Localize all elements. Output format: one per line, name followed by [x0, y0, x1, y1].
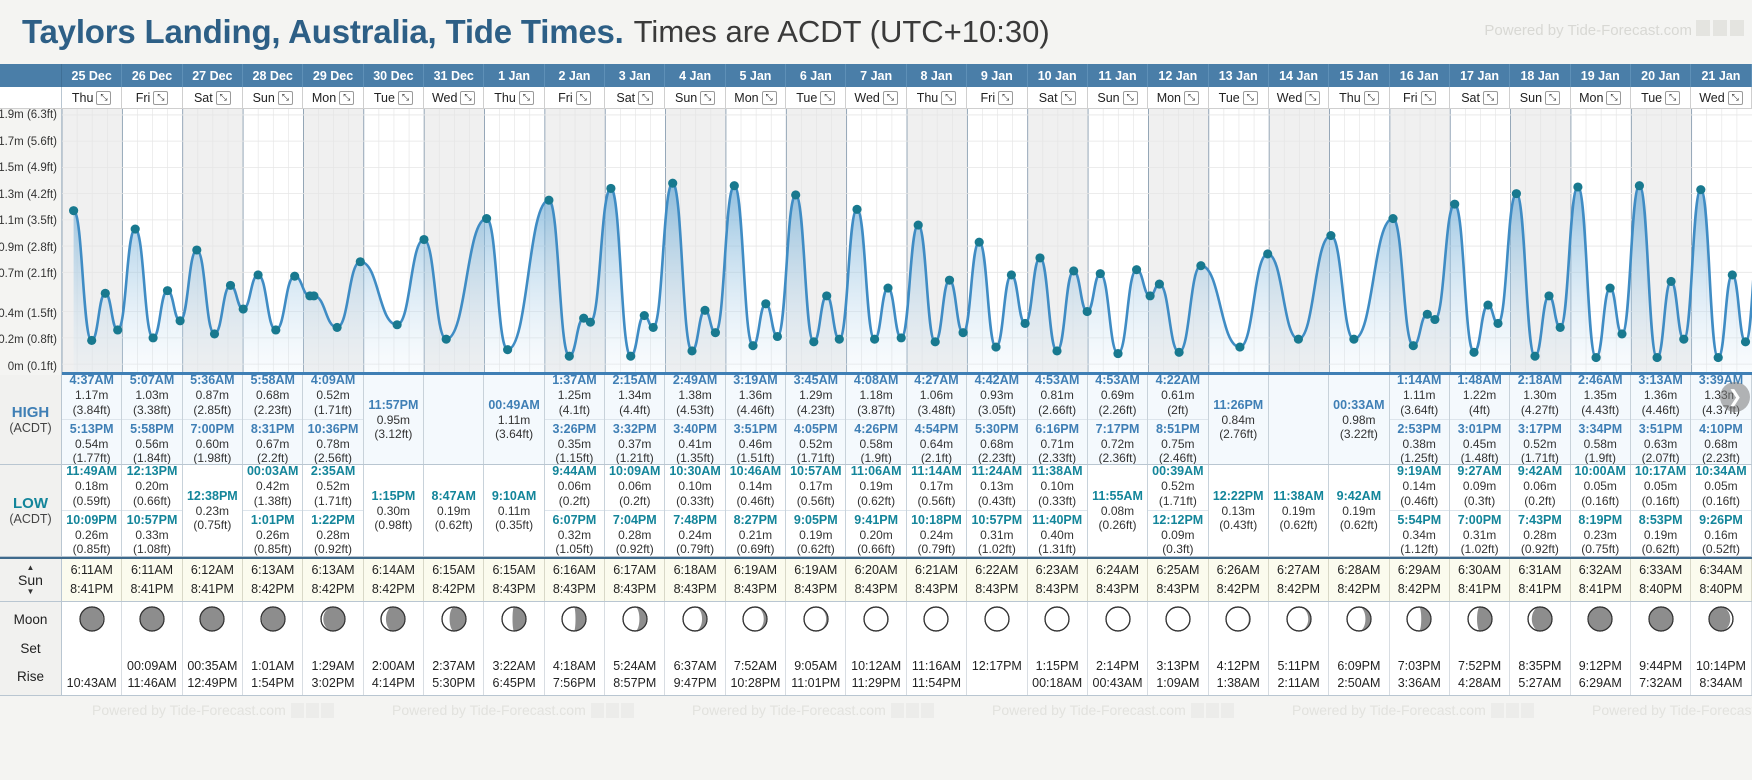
high-height-m: 0.68m [1704, 437, 1737, 451]
low-height-m: 0.17m [799, 479, 832, 493]
low-cell: 11:38AM0.10m(0.33ft)11:40PM0.40m(1.31ft) [1028, 465, 1088, 556]
high-cell: 3:45AM1.29m(4.23ft)4:05PM0.52m(1.71ft) [786, 375, 846, 464]
high-cell: 4:37AM1.17m(3.84ft)5:13PM0.54m(1.77ft) [62, 375, 122, 464]
low-cell: 9:19AM0.14m(0.46ft)5:54PM0.34m(1.12ft) [1390, 465, 1450, 556]
high-height-ft: (4.23ft) [797, 403, 835, 417]
moonrise-time: 11:46AM [127, 675, 176, 692]
expand-day-icon[interactable]: ⤡ [1184, 91, 1199, 105]
date-header-cell[interactable]: 15 Jan [1329, 64, 1389, 87]
high-height-ft: (2.07ft) [1642, 451, 1680, 464]
date-header-cell[interactable]: 21 Jan [1691, 64, 1751, 87]
low-height-m: 0.14m [739, 479, 772, 493]
expand-day-icon[interactable]: ⤡ [460, 91, 475, 105]
low-event: 11:38AM0.10m(0.33ft) [1028, 465, 1087, 508]
moonset-time: 7:03PM [1398, 658, 1441, 675]
moon-cell: 00:35AM12:49PM [183, 602, 243, 695]
low-height-m: 0.26m [256, 528, 289, 542]
low-height-m: 0.13m [1222, 504, 1255, 518]
high-height-ft: (2.26ft) [1099, 403, 1137, 417]
sunset-time: 8:43PM [674, 580, 717, 599]
sun-cell: 6:17AM8:43PM [605, 559, 665, 601]
high-cell: 5:58AM0.68m(2.23ft)8:31PM0.67m(2.2ft) [243, 375, 303, 464]
chart-y-axis: 1.9m (6.3ft)1.7m (5.6ft)1.5m (4.9ft)1.3m… [0, 109, 62, 375]
sun-cell: 6:24AM8:43PM [1088, 559, 1148, 601]
high-event: 5:30PM0.68m(2.23ft) [967, 419, 1026, 464]
moon-phase-icon [984, 606, 1010, 632]
moonrise-time: 7:56PM [553, 675, 596, 692]
low-event: 9:10AM0.11m(0.35ft) [484, 489, 543, 533]
weekday-cell: Sat⤡ [1450, 87, 1510, 108]
y-axis-tick-label: 1.7m (5.6ft) [0, 136, 57, 148]
low-height-ft: (1.71ft) [314, 494, 352, 508]
high-height-m: 0.75m [1161, 437, 1194, 451]
low-cell: 10:57AM0.17m(0.56ft)9:05PM0.19m(0.62ft) [786, 465, 846, 556]
high-event: 7:17PM0.72m(2.36ft) [1088, 419, 1147, 464]
high-height-m: 0.98m [1342, 413, 1375, 427]
expand-day-icon[interactable]: ⤡ [216, 91, 231, 105]
high-height-m: 1.11m [1403, 388, 1435, 402]
moon-times: 10:14PM8:34AM [1696, 658, 1746, 692]
weekday-label: Wed [1277, 91, 1302, 105]
sun-cell: 6:32AM8:41PM [1571, 559, 1631, 601]
low-height-ft: (0.92ft) [616, 542, 654, 556]
expand-day-icon[interactable]: ⤡ [1243, 91, 1258, 105]
weekday-cell: Fri⤡ [967, 87, 1027, 108]
date-header-cell[interactable]: 26 Dec [122, 64, 182, 87]
low-height-ft: (0.62ft) [797, 542, 835, 556]
expand-day-icon[interactable]: ⤡ [941, 91, 956, 105]
date-header-cell[interactable]: 29 Dec [303, 64, 363, 87]
sunset-time: 8:42PM [312, 580, 355, 599]
high-height-m: 0.68m [980, 437, 1013, 451]
low-tide-label: LOW (ACDT) [0, 465, 62, 556]
high-height-m: 1.29m [799, 388, 832, 402]
date-header-cell[interactable]: 6 Jan [786, 64, 846, 87]
low-event: 10:09PM0.26m(0.85ft) [62, 510, 121, 556]
low-time: 10:57AM [790, 465, 841, 479]
y-axis-tick-label: 0.9m (2.8ft) [0, 242, 57, 254]
low-height-m: 0.06m [1523, 479, 1556, 493]
low-event: 10:30AM0.10m(0.33ft) [665, 465, 724, 508]
low-event: 2:35AM0.52m(1.71ft) [303, 465, 362, 508]
expand-day-icon[interactable]: ⤡ [1364, 91, 1379, 105]
high-cell: 2:49AM1.38m(4.53ft)3:40PM0.41m(1.35ft) [665, 375, 725, 464]
high-event: 5:58AM0.68m(2.23ft) [243, 375, 302, 417]
low-time: 8:19PM [1578, 513, 1622, 528]
header-badges [1696, 20, 1744, 36]
expand-day-icon[interactable]: ⤡ [1728, 91, 1743, 105]
low-height-ft: (0.62ft) [435, 518, 473, 532]
high-tide-row: HIGH (ACDT) 4:37AM1.17m(3.84ft)5:13PM0.5… [0, 375, 1752, 465]
moonrise-time: 11:29PM [852, 675, 901, 692]
weekday-label: Thu [1339, 91, 1361, 105]
date-header-cell[interactable]: 31 Dec [424, 64, 484, 87]
low-height-ft: (0.16ft) [1642, 494, 1680, 508]
moon-phase-icon [501, 606, 527, 632]
weekday-cell: Wed⤡ [424, 87, 484, 108]
high-height-ft: (4.27ft) [1521, 403, 1559, 417]
expand-day-icon[interactable]: ⤡ [1606, 91, 1621, 105]
moon-times: 2:37AM5:30PM [432, 658, 475, 692]
weekday-label: Sat [1461, 91, 1480, 105]
date-header-cell[interactable]: 3 Jan [605, 64, 665, 87]
low-cell: 9:42AM0.19m(0.62ft) [1329, 465, 1389, 556]
weekday-cell: Mon⤡ [1571, 87, 1631, 108]
expand-day-icon[interactable]: ⤡ [339, 91, 354, 105]
sun-cell: 6:14AM8:42PM [364, 559, 424, 601]
moonset-time: 9:05AM [794, 658, 837, 675]
expand-day-icon[interactable]: ⤡ [883, 91, 898, 105]
footer-badge-icon-1 [1491, 703, 1504, 718]
high-time: 4:37AM [69, 375, 113, 388]
high-event: 2:18AM1.30m(4.27ft) [1510, 375, 1569, 417]
low-event: 7:43PM0.28m(0.92ft) [1510, 510, 1569, 556]
high-height-ft: (3.48ft) [917, 403, 955, 417]
expand-day-icon[interactable]: ⤡ [820, 91, 835, 105]
moonset-time: 00:35AM [187, 658, 237, 675]
moon-cell: 9:12PM6:29AM [1571, 602, 1631, 695]
weekday-corner [0, 87, 62, 108]
expand-day-icon[interactable]: ⤡ [1545, 91, 1560, 105]
low-time: 9:19AM [1397, 465, 1441, 479]
moon-cell: 7:52AM10:28PM [726, 602, 786, 695]
y-axis-tick-label: 0m (0.1ft) [8, 361, 57, 373]
sun-cell: 6:26AM8:42PM [1209, 559, 1269, 601]
high-event: 4:22AM0.61m(2ft) [1148, 375, 1207, 417]
weekday-label: Mon [312, 91, 336, 105]
low-event: 11:38AM0.19m(0.62ft) [1269, 489, 1328, 533]
date-header-cell[interactable]: 14 Jan [1269, 64, 1329, 87]
high-event: 11:57PM0.95m(3.12ft) [364, 398, 423, 442]
footer-credit: Powered by Tide-Forecast.com [1292, 702, 1534, 718]
date-header-cell[interactable]: 5 Jan [726, 64, 786, 87]
low-event: 9:26PM0.16m(0.52ft) [1691, 510, 1750, 556]
weekday-cell: Sun⤡ [1088, 87, 1148, 108]
high-time: 3:01PM [1458, 422, 1502, 437]
moon-cell: 12:17PM [967, 602, 1027, 695]
weekday-label: Wed [854, 91, 879, 105]
weekday-label: Fri [1403, 91, 1418, 105]
high-time: 4:09AM [311, 375, 355, 388]
low-height-m: 0.09m [1463, 479, 1496, 493]
low-height-m: 0.34m [1403, 528, 1436, 542]
date-header-cell[interactable]: 18 Jan [1510, 64, 1570, 87]
expand-day-icon[interactable]: ⤡ [1483, 91, 1498, 105]
low-event: 00:39AM0.52m(1.71ft) [1148, 465, 1207, 508]
high-height-m: 0.61m [1161, 388, 1194, 402]
high-height-m: 0.38m [1403, 437, 1436, 451]
expand-day-icon[interactable]: ⤡ [1665, 91, 1680, 105]
high-height-m: 1.18m [859, 388, 892, 402]
date-header-cell[interactable]: 30 Dec [364, 64, 424, 87]
footer-credit-text: Powered by Tide-Forecast.com [92, 702, 286, 718]
high-height-ft: (2.23ft) [1702, 451, 1740, 464]
high-height-ft: (2.76ft) [1219, 427, 1257, 441]
date-header-cell[interactable]: 27 Dec [183, 64, 243, 87]
moon-times: 3:13PM1:09AM [1156, 658, 1199, 692]
next-page-arrow-icon[interactable]: ❯ [1720, 382, 1750, 412]
expand-day-icon[interactable]: ⤡ [398, 91, 413, 105]
moon-phase-icon [742, 606, 768, 632]
low-height-m: 0.19m [799, 528, 832, 542]
moon-times: 6:09PM2:50AM [1337, 658, 1380, 692]
date-header-cell[interactable]: 20 Jan [1631, 64, 1691, 87]
weekday-cell: Sat⤡ [1028, 87, 1088, 108]
footer-badges [1491, 703, 1534, 718]
chart-plot-area[interactable] [62, 109, 1752, 375]
low-time: 7:00PM [1458, 513, 1502, 528]
high-height-ft: (2.56ft) [314, 451, 352, 464]
sun-cell: 6:25AM8:43PM [1148, 559, 1208, 601]
low-height-m: 0.23m [196, 504, 229, 518]
date-header-cell[interactable]: 16 Jan [1390, 64, 1450, 87]
low-height-m: 0.28m [1523, 528, 1556, 542]
date-header-cell[interactable]: 4 Jan [665, 64, 725, 87]
footer-badge-icon-1 [591, 703, 604, 718]
low-time: 8:27PM [734, 513, 778, 528]
high-height-m: 0.46m [739, 437, 772, 451]
high-height-ft: (2.23ft) [978, 451, 1016, 464]
moonrise-time: 7:32AM [1639, 675, 1682, 692]
expand-day-icon[interactable]: ⤡ [576, 91, 591, 105]
high-time: 2:15AM [613, 375, 657, 388]
high-height-m: 0.63m [1644, 437, 1677, 451]
high-time: 5:07AM [130, 375, 174, 388]
high-time: 3:51PM [734, 422, 778, 437]
sunset-time: 8:41PM [130, 580, 173, 599]
high-height-ft: (1.21ft) [616, 451, 654, 464]
moon-times: 5:24AM8:57PM [613, 658, 656, 692]
low-event: 9:42AM0.19m(0.62ft) [1329, 489, 1388, 533]
expand-day-icon[interactable]: ⤡ [998, 91, 1013, 105]
moonrise-time: 6:29AM [1579, 675, 1622, 692]
date-header-cell[interactable]: 12 Jan [1148, 64, 1208, 87]
low-event: 11:06AM0.19m(0.62ft) [846, 465, 905, 508]
date-header-cell[interactable]: 19 Jan [1571, 64, 1631, 87]
high-time: 4:26PM [854, 422, 898, 437]
high-height-ft: (1.35ft) [676, 451, 714, 464]
expand-day-icon[interactable]: ⤡ [1123, 91, 1138, 105]
weekday-label: Mon [1579, 91, 1603, 105]
moon-phase-icon [320, 606, 346, 632]
sunset-time: 8:43PM [613, 580, 656, 599]
high-height-ft: (4.43ft) [1581, 403, 1619, 417]
weekday-cell: Fri⤡ [1390, 87, 1450, 108]
low-time: 8:47AM [432, 489, 476, 504]
high-height-m: 0.71m [1040, 437, 1073, 451]
high-event: 4:53AM0.81m(2.66ft) [1028, 375, 1087, 417]
sunrise-time: 6:28AM [1337, 561, 1380, 580]
expand-day-icon[interactable]: ⤡ [519, 91, 534, 105]
moonrise-time: 3:36AM [1398, 675, 1441, 692]
moon-cell: 5:11PM2:11AM [1269, 602, 1329, 695]
high-time: 4:54PM [915, 422, 959, 437]
moon-times: 12:17PM [972, 658, 1022, 692]
low-time: 10:17AM [1635, 465, 1686, 479]
high-event: 2:53PM0.38m(1.25ft) [1390, 419, 1449, 464]
high-event: 4:05PM0.52m(1.71ft) [786, 419, 845, 464]
high-height-ft: (1.71ft) [1521, 451, 1559, 464]
moon-cell: 9:44PM7:32AM [1631, 602, 1691, 695]
sun-label: ▲ Sun ▼ [0, 559, 62, 601]
sunset-time: 8:43PM [1036, 580, 1079, 599]
moonset-time: 1:01AM [251, 658, 294, 675]
high-height-m: 0.35m [558, 437, 591, 451]
high-cell: 2:18AM1.30m(4.27ft)3:17PM0.52m(1.71ft) [1510, 375, 1570, 464]
high-time: 7:00PM [190, 422, 234, 437]
moon-cell: 6:09PM2:50AM [1329, 602, 1389, 695]
low-height-ft: (0.52ft) [1702, 542, 1740, 556]
high-height-m: 0.93m [980, 388, 1013, 402]
sunrise-time: 6:34AM [1699, 561, 1742, 580]
low-time: 11:14AM [911, 465, 962, 479]
low-time: 11:40PM [1032, 513, 1082, 528]
high-height-m: 1.17m [75, 388, 108, 402]
low-height-ft: (0.85ft) [254, 542, 292, 556]
low-height-m: 0.20m [135, 479, 168, 493]
date-header-cell[interactable]: 17 Jan [1450, 64, 1510, 87]
low-height-m: 0.52m [1161, 479, 1194, 493]
sun-cell: 6:27AM8:42PM [1269, 559, 1329, 601]
footer-credit: Powered by Tide-Forecast.com [992, 702, 1234, 718]
moonrise-time: 4:14PM [372, 675, 415, 692]
high-height-ft: (3.87ft) [857, 403, 895, 417]
high-time: 5:13PM [70, 422, 114, 437]
date-header-cell[interactable]: 11 Jan [1088, 64, 1148, 87]
footer-credit: Powered by Tide-Forecast.com [1592, 702, 1752, 718]
high-height-ft: (4.1ft) [559, 403, 590, 417]
high-cell: 4:22AM0.61m(2ft)8:51PM0.75m(2.46ft) [1148, 375, 1208, 464]
low-time: 10:09PM [66, 513, 117, 528]
sunset-time: 8:43PM [794, 580, 837, 599]
moonset-time: 4:12PM [1217, 658, 1260, 675]
high-height-ft: (1.71ft) [797, 451, 835, 464]
low-event: 1:01PM0.26m(0.85ft) [243, 510, 302, 556]
moonrise-time: 4:28AM [1458, 675, 1501, 692]
high-height-m: 1.30m [1523, 388, 1556, 402]
date-header-cell[interactable]: 25 Dec [62, 64, 122, 87]
low-cell: 12:38PM0.23m(0.75ft) [183, 465, 243, 556]
high-event: 00:49AM1.11m(3.64ft) [484, 398, 543, 442]
high-time: 4:42AM [975, 375, 1019, 388]
moonrise-time: 3:02PM [312, 675, 355, 692]
expand-day-icon[interactable]: ⤡ [700, 91, 715, 105]
moon-times: 8:35PM5:27AM [1518, 658, 1561, 692]
expand-day-icon[interactable]: ⤡ [1421, 91, 1436, 105]
high-event: 2:46AM1.35m(4.43ft) [1571, 375, 1630, 417]
high-cell: 4:42AM0.93m(3.05ft)5:30PM0.68m(2.23ft) [967, 375, 1027, 464]
date-header-cell[interactable]: 10 Jan [1028, 64, 1088, 87]
y-axis-tick-label: 0.2m (0.8ft) [0, 334, 57, 346]
high-height-ft: (3.38ft) [133, 403, 171, 417]
footer-credit-text: Powered by Tide-Forecast.com [1592, 702, 1752, 718]
high-event: 5:07AM1.03m(3.38ft) [122, 375, 181, 417]
expand-day-icon[interactable]: ⤡ [638, 91, 653, 105]
expand-day-icon[interactable]: ⤡ [762, 91, 777, 105]
high-time: 1:48AM [1457, 375, 1501, 388]
low-height-ft: (0.33ft) [1038, 494, 1076, 508]
low-cell: 9:42AM0.06m(0.2ft)7:43PM0.28m(0.92ft) [1510, 465, 1570, 556]
sunrise-time: 6:16AM [553, 561, 596, 580]
weekday-label: Wed [1699, 91, 1724, 105]
low-event: 9:19AM0.14m(0.46ft) [1390, 465, 1449, 508]
moonrise-time: 5:27AM [1518, 675, 1561, 692]
expand-day-icon[interactable]: ⤡ [96, 91, 111, 105]
high-height-m: 0.87m [196, 388, 229, 402]
sun-cell: 6:11AM8:41PM [62, 559, 122, 601]
high-height-ft: (4.46ft) [736, 403, 774, 417]
expand-day-icon[interactable]: ⤡ [278, 91, 293, 105]
weekday-cell: Sat⤡ [183, 87, 243, 108]
high-height-m: 0.81m [1040, 388, 1073, 402]
date-header-cell[interactable]: 7 Jan [846, 64, 906, 87]
low-event: 8:47AM0.19m(0.62ft) [424, 489, 483, 533]
low-event: 9:42AM0.06m(0.2ft) [1510, 465, 1569, 508]
moonset-time: 00:09AM [127, 658, 177, 675]
date-header-cell[interactable]: 28 Dec [243, 64, 303, 87]
expand-day-icon[interactable]: ⤡ [1061, 91, 1076, 105]
high-time: 4:05PM [794, 422, 838, 437]
low-cell: 00:39AM0.52m(1.71ft)12:12PM0.09m(0.3ft) [1148, 465, 1208, 556]
expand-day-icon[interactable]: ⤡ [153, 91, 168, 105]
high-cell: 3:13AM1.36m(4.46ft)3:51PM0.63m(2.07ft) [1631, 375, 1691, 464]
high-tide-label: HIGH (ACDT) [0, 375, 62, 464]
date-header-cell[interactable]: 1 Jan [484, 64, 544, 87]
footer-credit-text: Powered by Tide-Forecast.com [1292, 702, 1486, 718]
badge-icon-2 [1713, 20, 1727, 36]
date-header-cell[interactable]: 9 Jan [967, 64, 1027, 87]
high-event: 3:13AM1.36m(4.46ft) [1631, 375, 1690, 417]
high-cell: 00:49AM1.11m(3.64ft) [484, 375, 544, 464]
low-height-ft: (0.92ft) [1521, 542, 1559, 556]
high-height-m: 0.68m [256, 388, 289, 402]
sunrise-time: 6:24AM [1096, 561, 1139, 580]
moon-times: 3:22AM6:45PM [493, 658, 536, 692]
weekday-label: Tue [796, 91, 817, 105]
date-header-cell[interactable]: 8 Jan [907, 64, 967, 87]
date-header-cell[interactable]: 2 Jan [545, 64, 605, 87]
sunrise-arrow-icon: ▲ [27, 564, 35, 572]
high-height-ft: (2.66ft) [1038, 403, 1076, 417]
moon-times: 11:16AM11:54PM [912, 658, 961, 692]
moon-cell: 4:12PM1:38AM [1209, 602, 1269, 695]
y-axis-tick-label: 0.4m (1.5ft) [0, 308, 57, 320]
weekday-cell: Wed⤡ [846, 87, 906, 108]
low-height-m: 0.19m [859, 479, 892, 493]
expand-day-icon[interactable]: ⤡ [1305, 91, 1320, 105]
sun-cell: 6:15AM8:42PM [424, 559, 484, 601]
high-event: 3:17PM0.52m(1.71ft) [1510, 419, 1569, 464]
low-cell: 10:00AM0.05m(0.16ft)8:19PM0.23m(0.75ft) [1571, 465, 1631, 556]
moonset-time: 10:14PM [1696, 658, 1746, 675]
low-height-m: 0.10m [1040, 479, 1073, 493]
low-height-ft: (0.56ft) [917, 494, 955, 508]
high-time: 3:13AM [1638, 375, 1682, 388]
weekday-label: Wed [432, 91, 457, 105]
y-axis-tick-label: 0.7m (2.1ft) [0, 268, 57, 280]
weekday-cell: Thu⤡ [907, 87, 967, 108]
date-header-cell[interactable]: 13 Jan [1209, 64, 1269, 87]
low-event: 12:22PM0.13m(0.43ft) [1209, 489, 1268, 533]
moon-times: 6:37AM9:47PM [674, 658, 717, 692]
footer-credit-strip: Powered by Tide-Forecast.comPowered by T… [62, 696, 1752, 724]
sunrise-time: 6:18AM [674, 561, 717, 580]
moon-cell: 10:14PM8:34AM [1691, 602, 1751, 695]
sunset-time: 8:42PM [1277, 580, 1320, 599]
low-event: 12:38PM0.23m(0.75ft) [183, 489, 242, 533]
low-cell: 9:10AM0.11m(0.35ft) [484, 465, 544, 556]
high-event: 5:13PM0.54m(1.77ft) [62, 419, 121, 464]
